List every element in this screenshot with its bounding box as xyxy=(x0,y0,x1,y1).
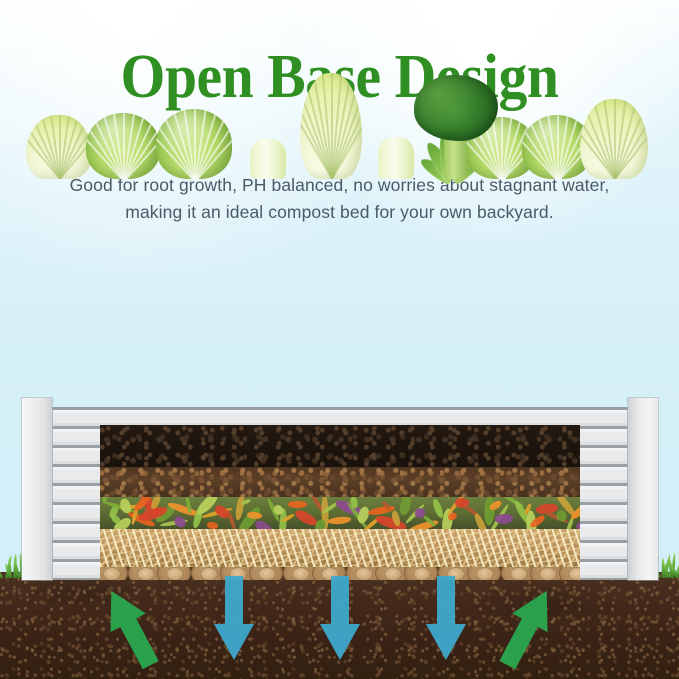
arrow-down-left xyxy=(207,572,261,664)
cabbage-left-inner xyxy=(156,109,232,179)
napa-cabbage-far-left xyxy=(26,115,92,179)
product-feature-image: Open Base Design Good for root growth, P… xyxy=(0,0,679,679)
broccoli-stem xyxy=(444,135,468,179)
arrow-up-right xyxy=(482,575,573,679)
cabbage-left xyxy=(86,113,160,179)
arrow-up-left xyxy=(86,575,177,679)
bok-choy-center-left xyxy=(250,139,286,179)
broccoli-center xyxy=(414,75,498,141)
bok-choy-center-right xyxy=(378,137,414,179)
arrow-down-right xyxy=(419,572,473,664)
napa-cabbage-far-right xyxy=(580,99,648,179)
arrow-down-center xyxy=(313,572,367,664)
